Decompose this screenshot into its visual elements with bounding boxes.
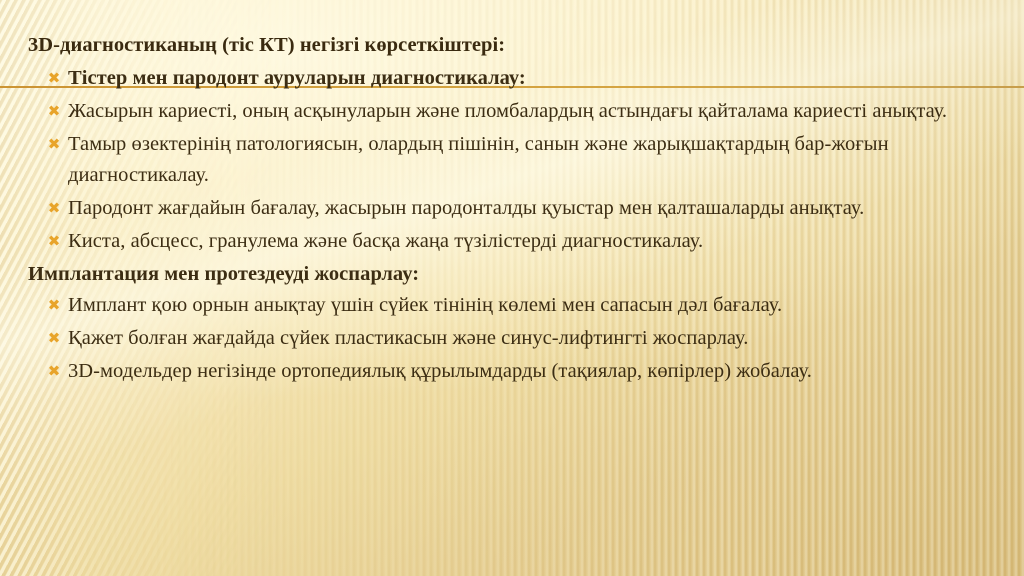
list-item: ✖Тістер мен пародонт ауруларын диагности…	[26, 63, 1000, 94]
list-item-label: Тамыр өзектерінің патологиясын, олардың …	[68, 133, 894, 186]
list-item: ✖Пародонт жағдайын бағалау, жасырын паро…	[26, 193, 1000, 224]
presentation-slide: 3D-диагностиканың (тіс КТ) негізгі көрсе…	[0, 0, 1024, 576]
list-item-label: Тістер мен пародонт ауруларын диагностик…	[68, 67, 526, 89]
cross-bullet-icon: ✖	[45, 63, 63, 94]
slide-content: 3D-диагностиканың (тіс КТ) негізгі көрсе…	[0, 0, 1024, 576]
cross-bullet-icon: ✖	[45, 290, 63, 321]
list-item-label: Имплант қою орнын анықтау үшін сүйек тін…	[68, 294, 782, 316]
cross-bullet-icon: ✖	[45, 129, 63, 160]
cross-bullet-icon: ✖	[45, 323, 63, 354]
list-item: ✖Киста, абсцесс, гранулема және басқа жа…	[26, 226, 1000, 257]
list-item-label: Қажет болған жағдайда сүйек пластикасын …	[68, 327, 748, 349]
list-item: ✖3D-модельдер негізінде ортопедиялық құр…	[26, 356, 1000, 387]
list-item: ✖Тамыр өзектерінің патологиясын, олардың…	[26, 129, 1000, 191]
list-item-label: Пародонт жағдайын бағалау, жасырын парод…	[68, 197, 864, 219]
list-item-label: Жасырын кариесті, оның асқынуларын және …	[68, 100, 947, 122]
list-item: ✖Жасырын кариесті, оның асқынуларын және…	[26, 96, 1000, 127]
section-heading-label: Имплантация мен протездеуді жоспарлау:	[28, 263, 419, 285]
list-item: ✖Имплант қою орнын анықтау үшін сүйек ті…	[26, 290, 1000, 321]
bullet-list: ✖Тістер мен пародонт ауруларын диагности…	[26, 63, 1000, 387]
cross-bullet-icon: ✖	[45, 356, 63, 387]
list-item-label: Киста, абсцесс, гранулема және басқа жаң…	[68, 230, 703, 252]
list-item: ✖Қажет болған жағдайда сүйек пластикасын…	[26, 323, 1000, 354]
cross-bullet-icon: ✖	[45, 193, 63, 224]
list-item-label: 3D-модельдер негізінде ортопедиялық құры…	[68, 360, 812, 382]
cross-bullet-icon: ✖	[45, 226, 63, 257]
page-title: 3D-диагностиканың (тіс КТ) негізгі көрсе…	[26, 30, 1000, 61]
section-heading: Имплантация мен протездеуді жоспарлау:	[26, 259, 1000, 290]
cross-bullet-icon: ✖	[45, 96, 63, 127]
